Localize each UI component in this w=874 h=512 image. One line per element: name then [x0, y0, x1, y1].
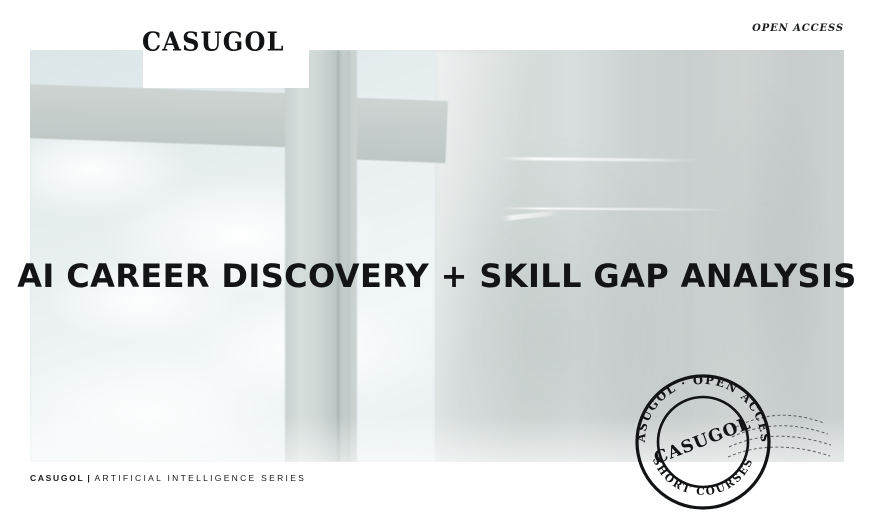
window-frame-horizontal [30, 84, 324, 148]
stamp-center-text: CASUGOL [651, 413, 753, 468]
frame-edge [347, 50, 350, 462]
slide-canvas: CASUGOL OPEN ACCESS AI CAREER DISCOVERY … [0, 0, 874, 512]
footer-bar: CASUGOL|ARTIFICIAL INTELLIGENCE SERIES [30, 474, 306, 483]
page-title: AI CAREER DISCOVERY + SKILL GAP ANALYSIS [0, 259, 874, 294]
open-access-stamp: CASUGOL · OPEN ACCESS SHORT COURSES CASU… [628, 367, 858, 512]
footer-brand: CASUGOL [30, 473, 84, 483]
frame-edge [337, 50, 340, 462]
open-access-label: OPEN ACCESS [752, 23, 844, 34]
footer-separator: | [84, 473, 94, 483]
stamp-graphic: CASUGOL · OPEN ACCESS SHORT COURSES CASU… [628, 367, 858, 512]
brand-logo: CASUGOL [142, 29, 285, 55]
footer-series: ARTIFICIAL INTELLIGENCE SERIES [95, 473, 307, 483]
window-frame-vertical [285, 50, 357, 462]
